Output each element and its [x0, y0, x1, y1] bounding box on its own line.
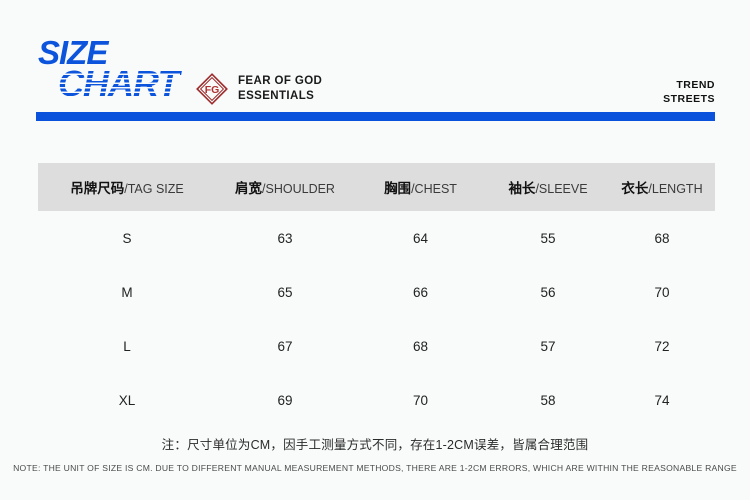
cell-sleeve: 55	[487, 231, 609, 246]
page-title-line-chart: CHART	[58, 66, 178, 102]
brand-lockup: FG FEAR OF GOD ESSENTIALS	[195, 72, 322, 106]
blue-divider-bar	[36, 112, 715, 121]
cell-size: XL	[38, 393, 216, 408]
size-chart-page: { "header": { "title_line1": "SIZE", "ti…	[0, 0, 750, 500]
column-header-sleeve: 袖长/SLEEVE	[487, 177, 609, 197]
cell-length: 74	[609, 393, 715, 408]
table-row: XL 69 70 58 74	[38, 373, 715, 427]
cell-size: L	[38, 339, 216, 354]
cell-chest: 64	[354, 231, 487, 246]
cell-shoulder: 69	[216, 393, 354, 408]
table-row: L 67 68 57 72	[38, 319, 715, 373]
cell-length: 72	[609, 339, 715, 354]
cell-size: S	[38, 231, 216, 246]
cell-sleeve: 57	[487, 339, 609, 354]
column-header-chest: 胸围/CHEST	[354, 177, 487, 197]
column-header-cn: 衣长	[621, 181, 648, 196]
column-header-en: TAG SIZE	[128, 182, 184, 196]
column-header-en: LENGTH	[652, 182, 703, 196]
cell-shoulder: 67	[216, 339, 354, 354]
column-header-en: CHEST	[415, 182, 457, 196]
column-header-cn: 肩宽	[235, 181, 262, 196]
page-header: SIZE CHART FG FEAR OF GOD ESSENTIALS TRE…	[0, 0, 750, 130]
column-header-tag-size: 吊牌尺码/TAG SIZE	[38, 177, 216, 197]
size-table: 吊牌尺码/TAG SIZE 肩宽/SHOULDER 胸围/CHEST 袖长/SL…	[38, 163, 715, 427]
trend-line-1: TREND	[663, 79, 715, 93]
cell-sleeve: 58	[487, 393, 609, 408]
column-header-cn: 吊牌尺码	[70, 181, 124, 196]
trend-streets-label: TREND STREETS	[663, 79, 715, 106]
table-header-row: 吊牌尺码/TAG SIZE 肩宽/SHOULDER 胸围/CHEST 袖长/SL…	[38, 163, 715, 211]
cell-chest: 68	[354, 339, 487, 354]
fg-diamond-logo-icon: FG	[195, 72, 229, 106]
page-title: SIZE CHART	[38, 36, 218, 108]
brand-name-line-1: FEAR OF GOD	[238, 75, 322, 87]
cell-shoulder: 63	[216, 231, 354, 246]
column-header-length: 衣长/LENGTH	[609, 177, 715, 197]
column-header-cn: 袖长	[508, 181, 535, 196]
page-footer: 注：尺寸单位为CM，因手工测量方式不同，存在1-2CM误差，皆属合理范围 NOT…	[0, 436, 750, 474]
brand-name-line-2: ESSENTIALS	[238, 89, 322, 104]
column-header-en: SLEEVE	[539, 182, 588, 196]
svg-text:FG: FG	[205, 84, 220, 96]
table-row: M 65 66 56 70	[38, 265, 715, 319]
table-row: S 63 64 55 68	[38, 211, 715, 265]
measurement-note-cn: 注：尺寸单位为CM，因手工测量方式不同，存在1-2CM误差，皆属合理范围	[0, 436, 750, 455]
cell-shoulder: 65	[216, 285, 354, 300]
column-header-en: SHOULDER	[266, 182, 335, 196]
measurement-note-en: NOTE: THE UNIT OF SIZE IS CM. DUE TO DIF…	[0, 462, 750, 474]
brand-name: FEAR OF GOD ESSENTIALS	[238, 74, 322, 103]
cell-length: 68	[609, 231, 715, 246]
column-header-cn: 胸围	[384, 181, 411, 196]
cell-length: 70	[609, 285, 715, 300]
cell-chest: 70	[354, 393, 487, 408]
column-header-shoulder: 肩宽/SHOULDER	[216, 177, 354, 197]
page-title-chart-text: CHART	[58, 66, 178, 102]
trend-line-2: STREETS	[663, 93, 715, 107]
cell-chest: 66	[354, 285, 487, 300]
cell-sleeve: 56	[487, 285, 609, 300]
cell-size: M	[38, 285, 216, 300]
